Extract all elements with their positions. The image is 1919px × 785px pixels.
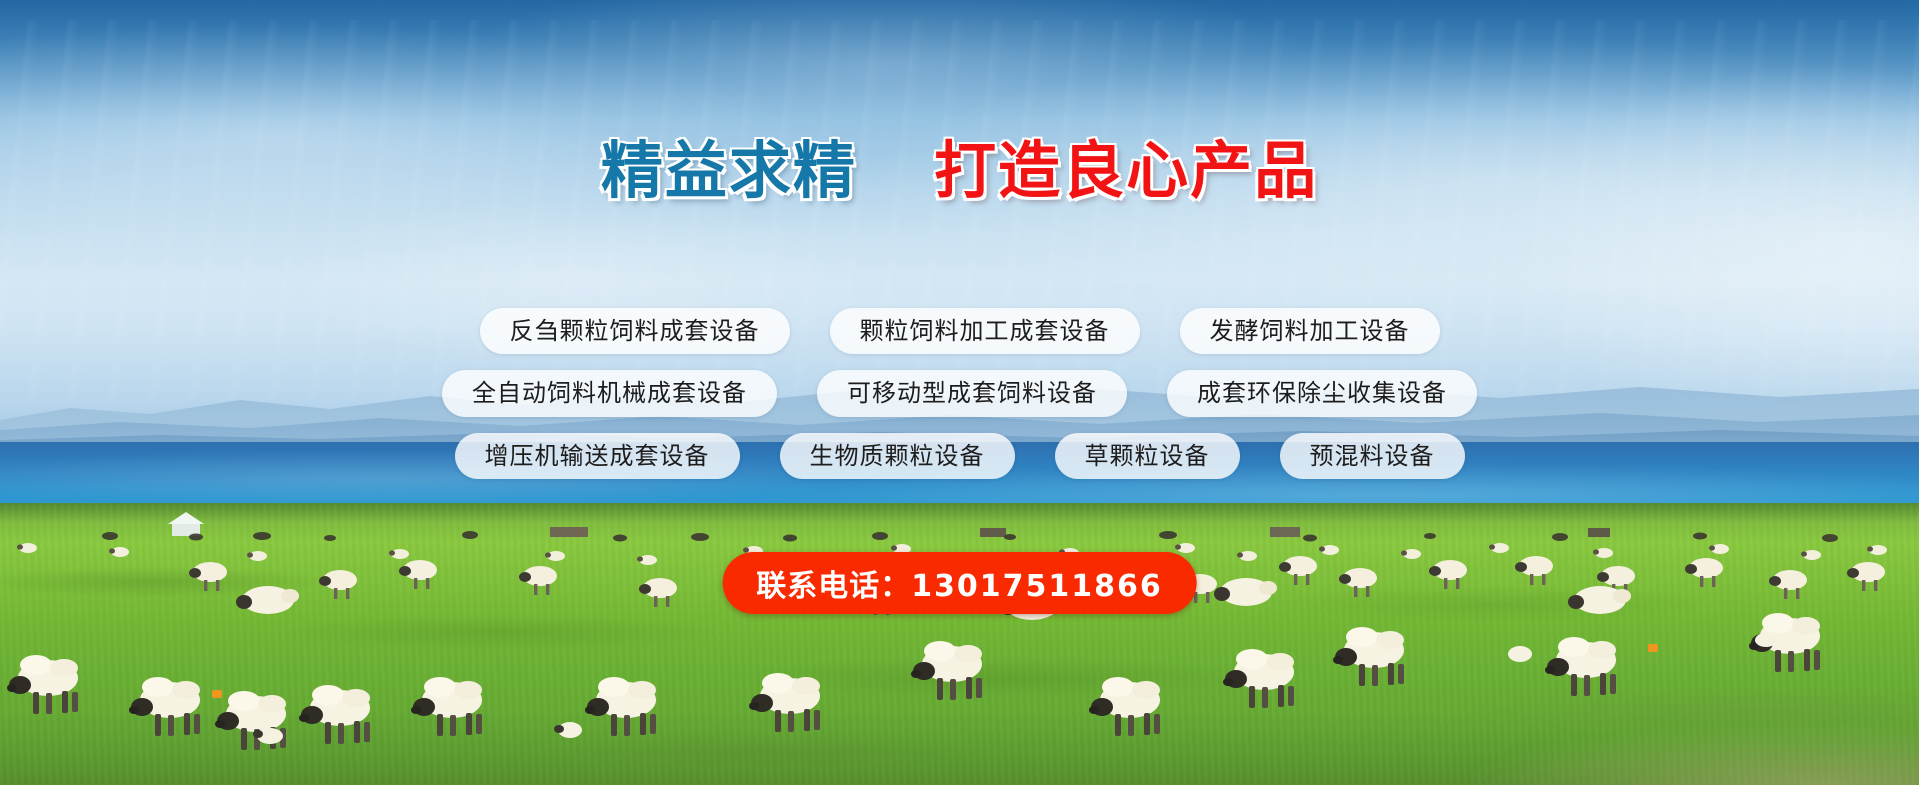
category-pill-groups: 反刍颗粒饲料成套设备 颗粒饲料加工成套设备 发酵饲料加工设备 全自动饲料机械成套… bbox=[0, 308, 1919, 495]
category-row-3: 增压机输送成套设备 生物质颗粒设备 草颗粒设备 预混料设备 bbox=[0, 433, 1919, 479]
contact-phone-number: 13017511866 bbox=[911, 569, 1163, 604]
category-pill-dust-collection-line[interactable]: 成套环保除尘收集设备 bbox=[1167, 370, 1477, 416]
promo-banner: 精益求精 打造良心产品 反刍颗粒饲料成套设备 颗粒饲料加工成套设备 发酵饲料加工… bbox=[0, 0, 1919, 785]
contact-phone-banner[interactable]: 联系电话：13017511866 bbox=[722, 552, 1197, 614]
horizon-camp bbox=[168, 512, 1610, 537]
category-row-2: 全自动饲料机械成套设备 可移动型成套饲料设备 成套环保除尘收集设备 bbox=[0, 370, 1919, 416]
headline-red: 打造良心产品 bbox=[934, 134, 1318, 207]
category-pill-automatic-feed-machinery-line[interactable]: 全自动饲料机械成套设备 bbox=[442, 370, 777, 416]
sheep-group-near bbox=[7, 613, 1820, 750]
contact-label: 联系电话： bbox=[756, 569, 911, 604]
category-pill-biomass-pellet-equipment[interactable]: 生物质颗粒设备 bbox=[780, 433, 1015, 479]
distant-livestock bbox=[102, 531, 1838, 542]
category-pill-premix-equipment[interactable]: 预混料设备 bbox=[1280, 433, 1465, 479]
category-pill-mobile-feed-equipment-line[interactable]: 可移动型成套饲料设备 bbox=[817, 370, 1127, 416]
headline: 精益求精 打造良心产品 bbox=[0, 138, 1919, 203]
category-row-1: 反刍颗粒饲料成套设备 颗粒饲料加工成套设备 发酵饲料加工设备 bbox=[0, 308, 1919, 354]
category-pill-ruminant-pellet-feed-line[interactable]: 反刍颗粒饲料成套设备 bbox=[480, 308, 790, 354]
headline-blue: 精益求精 bbox=[601, 134, 857, 207]
category-pill-fermented-feed-equipment[interactable]: 发酵饲料加工设备 bbox=[1180, 308, 1440, 354]
category-pill-grass-pellet-equipment[interactable]: 草颗粒设备 bbox=[1055, 433, 1240, 479]
category-pill-booster-conveying-line[interactable]: 增压机输送成套设备 bbox=[455, 433, 740, 479]
category-pill-pellet-feed-processing-line[interactable]: 颗粒饲料加工成套设备 bbox=[830, 308, 1140, 354]
